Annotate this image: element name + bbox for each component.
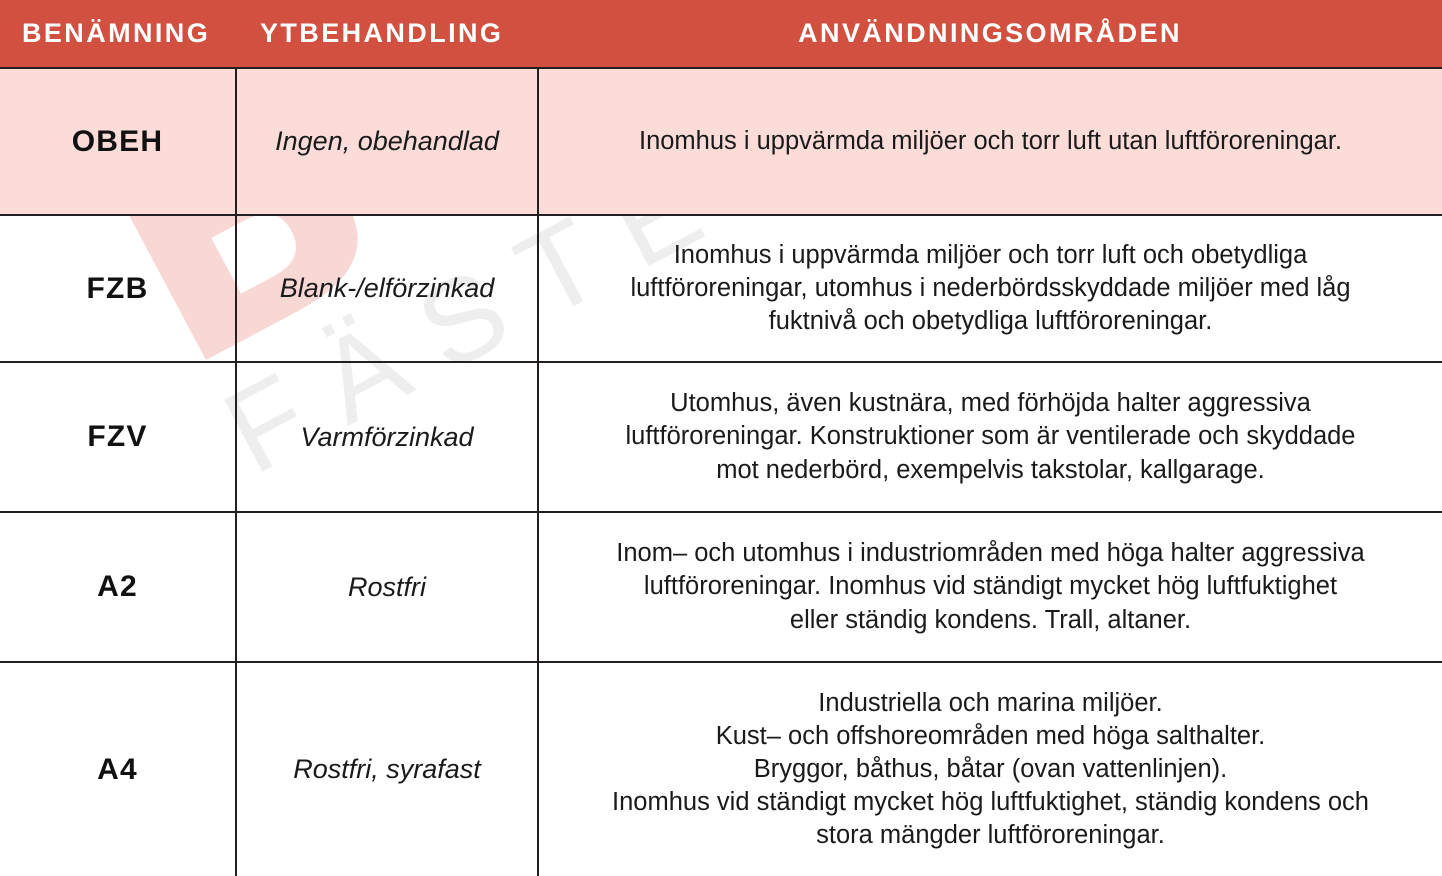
table-row: A4Rostfri, syrafastIndustriella och mari…	[0, 662, 1442, 876]
cell-ytbehandling: Varmförzinkad	[236, 362, 538, 512]
usage-line: Industriella och marina miljöer.	[561, 687, 1420, 720]
cell-ytbehandling: Ingen, obehandlad	[236, 68, 538, 215]
usage-line: Inomhus i uppvärmda miljöer och torr luf…	[561, 125, 1420, 158]
cell-benamning: FZB	[0, 215, 236, 362]
usage-line: Kust– och offshoreområden med höga salth…	[561, 720, 1420, 753]
usage-line: Bryggor, båthus, båtar (ovan vattenlinje…	[561, 753, 1420, 786]
table-row: FZVVarmförzinkadUtomhus, även kustnära, …	[0, 362, 1442, 512]
usage-line: mot nederbörd, exempelvis takstolar, kal…	[561, 454, 1420, 487]
cell-benamning: FZV	[0, 362, 236, 512]
cell-benamning: A4	[0, 662, 236, 876]
column-header-benamning: BENÄMNING	[0, 0, 236, 68]
surface-treatment-table: BENÄMNING YTBEHANDLING ANVÄNDNINGSOMRÅDE…	[0, 0, 1442, 876]
table-row: OBEHIngen, obehandladInomhus i uppvärmda…	[0, 68, 1442, 215]
usage-line: Utomhus, även kustnära, med förhöjda hal…	[561, 387, 1420, 420]
usage-line: stora mängder luftföroreningar.	[561, 819, 1420, 852]
usage-line: Inomhus vid ständigt mycket hög luftfukt…	[561, 786, 1420, 819]
table-body: OBEHIngen, obehandladInomhus i uppvärmda…	[0, 68, 1442, 876]
cell-benamning: OBEH	[0, 68, 236, 215]
cell-anvandningsomraden: Inom– och utomhus i industriområden med …	[538, 512, 1442, 662]
table-header-row: BENÄMNING YTBEHANDLING ANVÄNDNINGSOMRÅDE…	[0, 0, 1442, 68]
usage-line: fuktnivå och obetydliga luftföroreningar…	[561, 305, 1420, 338]
usage-line: luftföroreningar, utomhus i nederbördssk…	[561, 272, 1420, 305]
cell-anvandningsomraden: Inomhus i uppvärmda miljöer och torr luf…	[538, 215, 1442, 362]
table-row: FZBBlank-/elförzinkadInomhus i uppvärmda…	[0, 215, 1442, 362]
column-header-anvandningsomraden: ANVÄNDNINGSOMRÅDEN	[538, 0, 1442, 68]
table-row: A2RostfriInom– och utomhus i industriomr…	[0, 512, 1442, 662]
cell-ytbehandling: Blank-/elförzinkad	[236, 215, 538, 362]
table-header: BENÄMNING YTBEHANDLING ANVÄNDNINGSOMRÅDE…	[0, 0, 1442, 68]
cell-anvandningsomraden: Inomhus i uppvärmda miljöer och torr luf…	[538, 68, 1442, 215]
cell-ytbehandling: Rostfri, syrafast	[236, 662, 538, 876]
usage-line: luftföroreningar. Inomhus vid ständigt m…	[561, 570, 1420, 603]
cell-anvandningsomraden: Industriella och marina miljöer.Kust– oc…	[538, 662, 1442, 876]
usage-line: Inom– och utomhus i industriområden med …	[561, 537, 1420, 570]
usage-line: eller ständig kondens. Trall, altaner.	[561, 604, 1420, 637]
column-header-ytbehandling: YTBEHANDLING	[236, 0, 538, 68]
usage-line: Inomhus i uppvärmda miljöer och torr luf…	[561, 239, 1420, 272]
cell-anvandningsomraden: Utomhus, även kustnära, med förhöjda hal…	[538, 362, 1442, 512]
usage-line: luftföroreningar. Konstruktioner som är …	[561, 420, 1420, 453]
cell-benamning: A2	[0, 512, 236, 662]
cell-ytbehandling: Rostfri	[236, 512, 538, 662]
